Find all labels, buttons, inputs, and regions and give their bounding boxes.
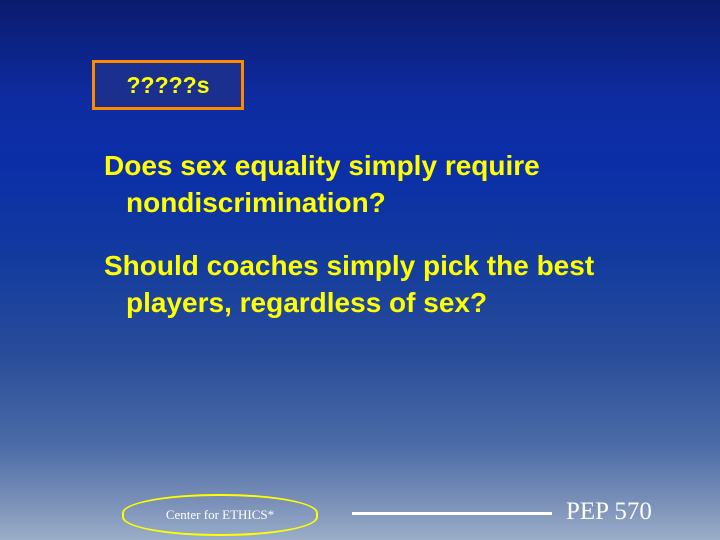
footer-badge-label: Center for ETHICS* bbox=[166, 507, 274, 523]
slide-canvas: ?????s Does sex equality simply require … bbox=[0, 0, 720, 540]
footer-divider bbox=[352, 512, 552, 515]
slide-title-box: ?????s bbox=[92, 60, 244, 110]
page-title: ?????s bbox=[126, 72, 209, 99]
slide-body: Does sex equality simply require nondisc… bbox=[104, 148, 664, 348]
footer-badge: Center for ETHICS* bbox=[122, 494, 318, 536]
body-paragraph-2: Should coaches simply pick the best play… bbox=[104, 248, 664, 322]
footer-course-code: PEP 570 bbox=[566, 498, 652, 526]
body-paragraph-1: Does sex equality simply require nondisc… bbox=[104, 148, 664, 222]
